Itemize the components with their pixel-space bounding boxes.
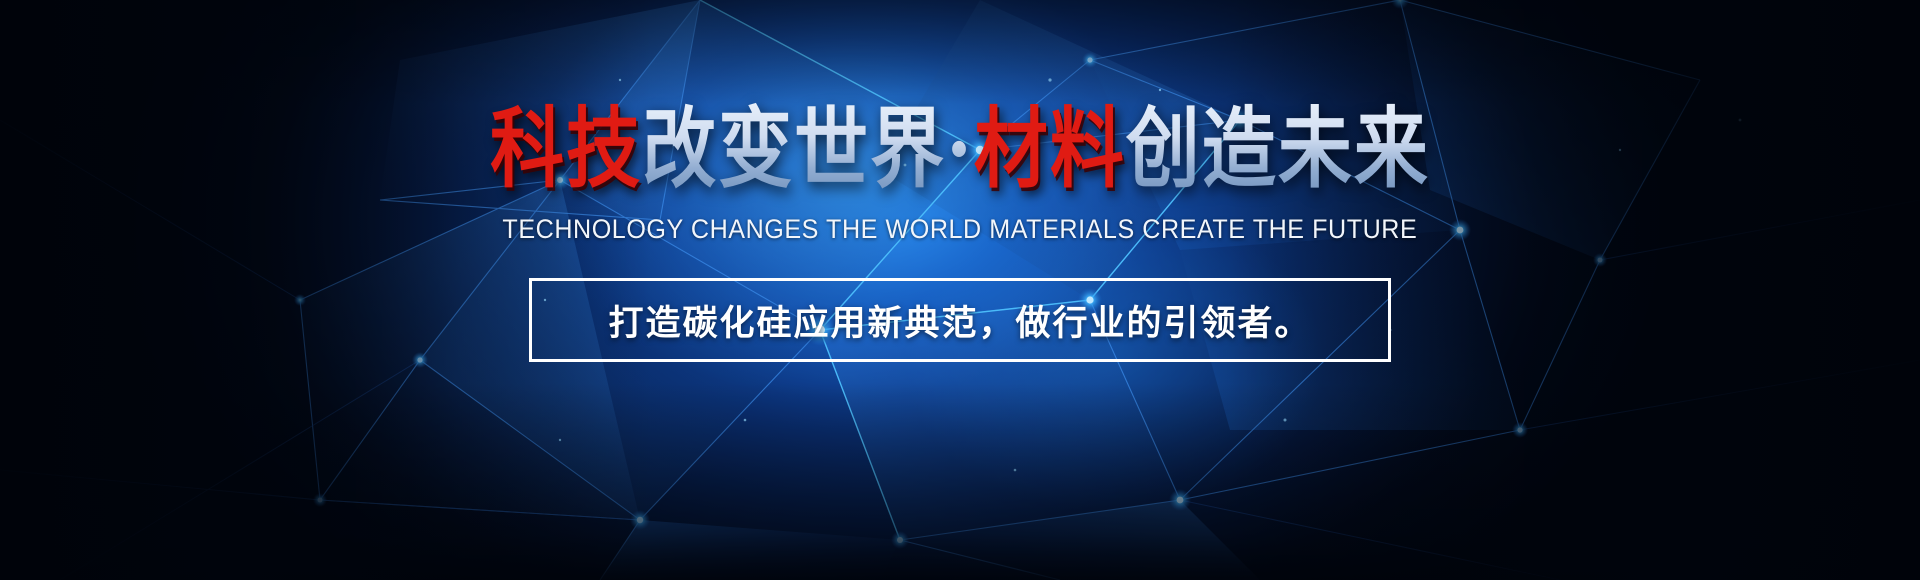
slogan-box: 打造碳化硅应用新典范，做行业的引领者。 [529, 278, 1391, 362]
headline-segment-3: 材料 [974, 99, 1126, 200]
banner-headline: 科技改变世界·材料创造未来 [490, 106, 1430, 193]
headline-segment-2: 改变世界· [642, 99, 974, 200]
hero-banner: 科技改变世界·材料创造未来 TECHNOLOGY CHANGES THE WOR… [0, 0, 1920, 580]
slogan-text: 打造碳化硅应用新典范，做行业的引领者。 [608, 295, 1311, 346]
headline-segment-1: 科技 [490, 99, 642, 200]
headline-segment-4: 创造未来 [1126, 99, 1430, 200]
banner-subheadline: TECHNOLOGY CHANGES THE WORLD MATERIALS C… [503, 214, 1418, 245]
banner-content: 科技改变世界·材料创造未来 TECHNOLOGY CHANGES THE WOR… [0, 0, 1920, 580]
